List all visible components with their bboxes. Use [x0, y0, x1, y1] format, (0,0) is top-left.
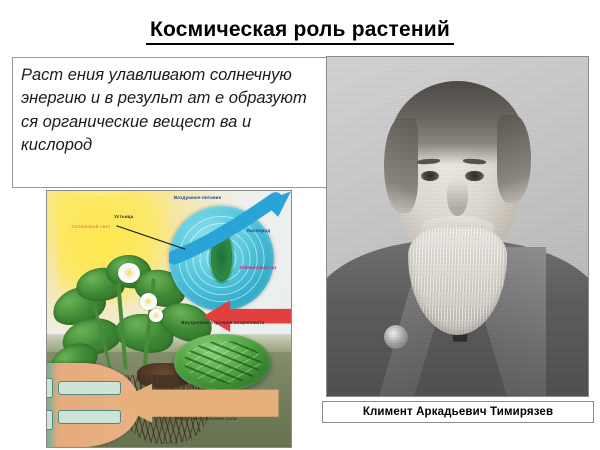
portrait-nose: [447, 179, 468, 216]
flower-icon: [118, 263, 140, 283]
portrait-hair-left: [384, 118, 418, 213]
stomata-pointer-line: [115, 217, 188, 258]
diagram-label-carbon-dioxide: Углекислый газ: [240, 265, 277, 270]
description-text: Раст ения улавливают солнечную энергию и…: [13, 58, 329, 158]
portrait-caption-text: Климент Аркадьевич Тимирязев: [363, 406, 553, 418]
root-vessel: [46, 410, 53, 431]
portrait-hair-right: [497, 115, 531, 203]
diagram-label-chloroplast: Внутреннее строение хлоропласта: [181, 320, 279, 325]
diagram-label-oxygen: Кислород: [247, 228, 270, 233]
portrait-photo: [326, 56, 589, 397]
photosynthesis-diagram: Солнечный свет Воздушное питание Устьица…: [46, 190, 292, 448]
page-title-text: Космическая роль растений: [146, 18, 454, 45]
page-title: Космическая роль растений: [0, 18, 600, 45]
diagram-label-sunlight: Солнечный свет: [71, 224, 110, 229]
flower-icon: [140, 293, 157, 310]
portrait-caption-box: Климент Аркадьевич Тимирязев: [322, 401, 594, 423]
portrait-lapel-pin: [384, 325, 407, 349]
portrait-eye-right: [465, 171, 483, 182]
water-uptake-arrow-icon: [101, 375, 282, 431]
root-vessel: [46, 378, 53, 399]
description-textbox: Раст ения улавливают солнечную энергию и…: [12, 57, 330, 188]
flower-icon: [149, 309, 162, 322]
diagram-label-air-nutrition: Воздушное питание: [174, 195, 221, 200]
slide-canvas: Космическая роль растений Раст ения улав…: [0, 0, 600, 450]
diagram-label-water-minerals: Вода, минеральные соли: [176, 416, 249, 421]
diagram-label-stomata: Устьица: [114, 214, 133, 219]
